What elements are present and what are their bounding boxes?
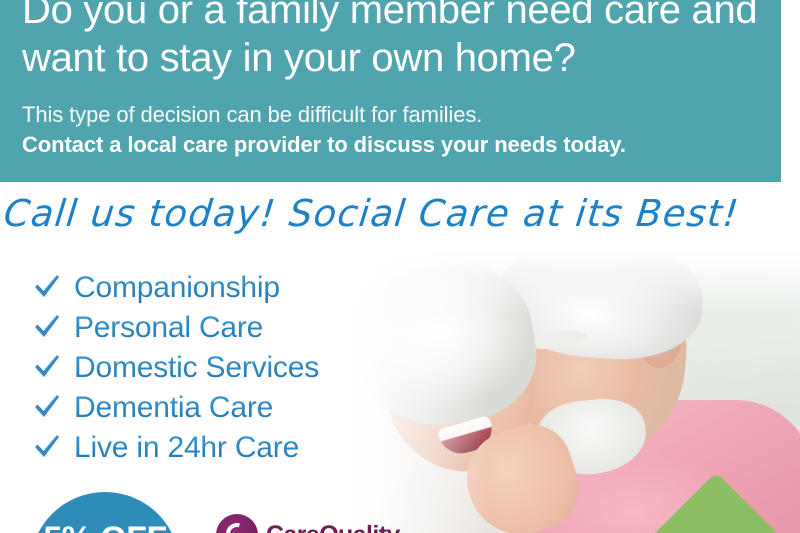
service-label: Companionship	[74, 271, 280, 305]
badges-row: 5% OFF CareQuality	[30, 492, 400, 533]
service-label: Personal Care	[74, 311, 263, 345]
discount-badge: 5% OFF	[30, 492, 180, 533]
care-advertisement: Do you or a family member need care and …	[0, 0, 800, 533]
care-quality-commission-logo: CareQuality	[216, 492, 400, 533]
check-icon	[32, 353, 62, 383]
check-icon	[32, 393, 62, 423]
list-item: Companionship	[32, 268, 319, 308]
tagline: Call us today! Social Care at its Best!	[4, 188, 796, 246]
check-icon	[32, 433, 62, 463]
tagline-text: Call us today! Social Care at its Best!	[1, 188, 798, 240]
subcopy-line-2: Contact a local care provider to discuss…	[22, 130, 759, 160]
list-item: Personal Care	[32, 308, 319, 348]
list-item: Domestic Services	[32, 348, 319, 388]
subcopy-line-1: This type of decision can be difficult f…	[22, 100, 759, 130]
header-subcopy: This type of decision can be difficult f…	[22, 82, 759, 160]
care-quality-commission-icon	[216, 514, 258, 533]
check-icon	[32, 273, 62, 303]
service-label: Live in 24hr Care	[74, 431, 299, 465]
discount-badge-label: 5% OFF	[43, 520, 167, 533]
header-banner: Do you or a family member need care and …	[0, 0, 781, 182]
service-label: Dementia Care	[74, 391, 273, 425]
list-item: Dementia Care	[32, 388, 319, 428]
page-title: Do you or a family member need care and …	[22, 0, 759, 82]
services-list: Companionship Personal Care Domestic Ser…	[32, 268, 319, 468]
care-quality-commission-wordmark: CareQuality	[266, 521, 400, 533]
photo-left-fade	[340, 250, 490, 533]
check-icon	[32, 313, 62, 343]
list-item: Live in 24hr Care	[32, 428, 319, 468]
service-label: Domestic Services	[74, 351, 319, 385]
